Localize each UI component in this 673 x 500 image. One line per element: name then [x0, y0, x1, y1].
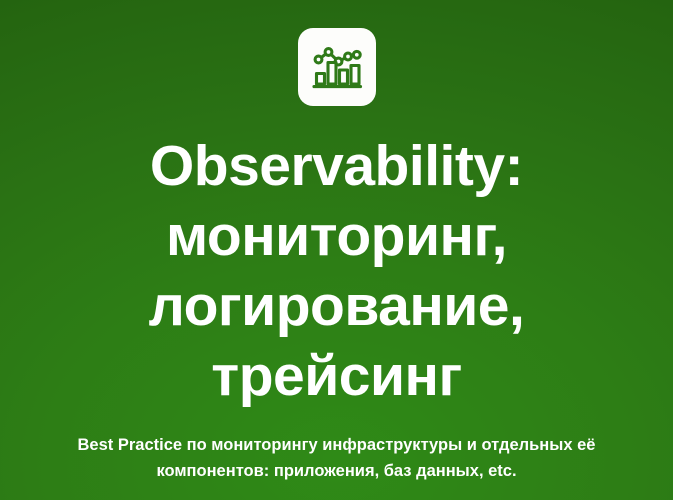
- title-line-1: Observability:: [18, 131, 655, 201]
- title-slide: Observability: мониторинг, логирование, …: [0, 0, 673, 500]
- bar-chart-line-icon: [311, 43, 363, 91]
- title-line-4: трейсинг: [18, 341, 655, 411]
- page-subtitle: Best Practice по мониторингу инфраструкт…: [0, 432, 673, 484]
- subtitle-line-1: Best Practice по мониторингу инфраструкт…: [14, 432, 659, 458]
- page-title: Observability: мониторинг, логирование, …: [0, 131, 673, 411]
- logo-card: [298, 28, 376, 106]
- subtitle-line-2: компонентов: приложения, баз данных, etc…: [14, 458, 659, 484]
- title-line-2: мониторинг,: [18, 201, 655, 271]
- title-line-3: логирование,: [18, 271, 655, 341]
